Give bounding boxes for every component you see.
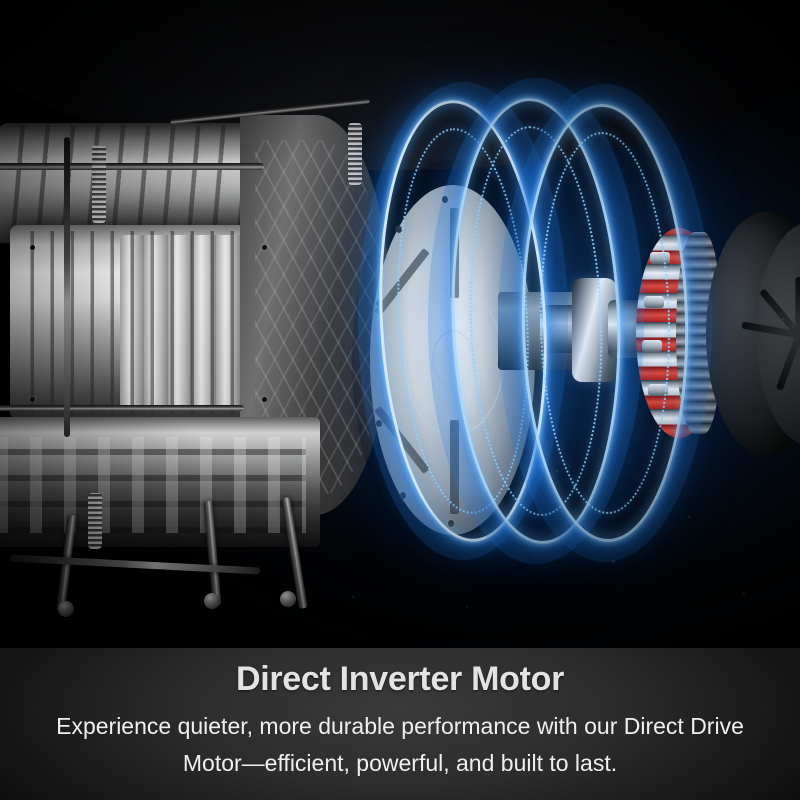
coolant-pipe-vertical	[64, 137, 70, 437]
housing-bolt	[262, 397, 267, 402]
panel-title: Direct Inverter Motor	[0, 660, 800, 699]
inverter-housing-assembly	[0, 45, 400, 605]
dust-mote	[612, 560, 615, 563]
rotor-magnet	[642, 340, 662, 352]
rotor-magnet	[644, 296, 664, 308]
dust-mote	[466, 606, 468, 608]
panel-subtitle: Experience quieter, more durable perform…	[0, 708, 800, 782]
stator-inner-ring	[404, 288, 504, 436]
panel-subtitle-line-1: Experience quieter, more durable perform…	[0, 708, 800, 745]
caption-panel: Direct Inverter Motor Experience quieter…	[0, 648, 800, 800]
cylinder-cooling-ribs	[14, 231, 276, 415]
product-feature-card: Direct Inverter Motor Experience quieter…	[0, 0, 800, 800]
panel-subtitle-line-2: Motor—efficient, powerful, and built to …	[0, 745, 800, 782]
stator-bolt	[448, 520, 454, 527]
sump-rib-detail	[0, 437, 306, 533]
stator-bolt	[376, 420, 382, 427]
stator-bolt	[400, 492, 406, 499]
dust-mote	[556, 470, 558, 472]
ball-joint-right	[280, 591, 296, 607]
motor-hero-image	[0, 0, 800, 648]
dust-mote	[782, 318, 784, 320]
stator-bolt	[442, 196, 448, 203]
coolant-pipe-upper	[0, 163, 264, 170]
spring-coil-lower	[88, 493, 102, 549]
stator-spoke	[450, 420, 459, 514]
ball-joint-left	[58, 601, 74, 617]
end-bell-star-emblem	[760, 250, 800, 420]
dust-mote	[352, 596, 354, 598]
rotor-magnet	[650, 252, 670, 264]
emblem-blade	[776, 334, 800, 391]
stator-bolt	[376, 300, 382, 307]
rotor-magnet	[648, 384, 668, 396]
stator-bolt	[396, 226, 402, 233]
dust-mote	[742, 592, 745, 595]
spring-coil-left	[92, 145, 106, 223]
ball-joint-mid	[204, 593, 220, 609]
coolant-pipe-mid	[0, 405, 244, 411]
housing-bolt	[30, 397, 35, 402]
cross-member	[10, 554, 260, 574]
dust-mote	[688, 516, 690, 518]
housing-bolt	[30, 245, 35, 250]
spring-coil-right	[348, 123, 362, 185]
housing-bolt	[262, 245, 267, 250]
stator-spoke	[450, 208, 459, 298]
